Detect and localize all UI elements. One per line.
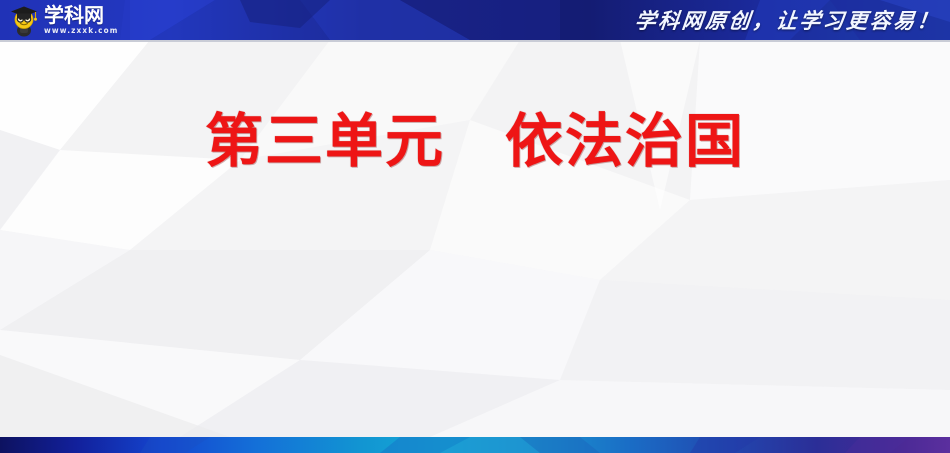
site-logo[interactable]: 学科网 www.zxxk.com xyxy=(6,1,124,39)
slide-title-area: 第三单元 依法治国 xyxy=(0,110,950,174)
header-slogan-text: 学科网原创，让学习更容易！ xyxy=(633,5,942,35)
header-slogan: 学科网原创，让学习更容易！ xyxy=(635,0,941,40)
slide-footer-bar xyxy=(0,437,950,453)
presentation-slide: 学科网 www.zxxk.com 学科网原创，让学习更容易！ 第三单元 依法治国 xyxy=(0,0,950,453)
slide-header-bar: 学科网 www.zxxk.com 学科网原创，让学习更容易！ xyxy=(0,0,950,40)
header-divider xyxy=(0,40,950,42)
logo-brand-name: 学科网 xyxy=(44,5,121,25)
background-polygon-pattern xyxy=(0,0,950,453)
graduate-mascot-icon xyxy=(6,2,42,38)
page-title: 第三单元 依法治国 xyxy=(205,110,745,174)
logo-website-url: www.zxxk.com xyxy=(44,27,119,35)
footer-polygon-pattern xyxy=(0,437,950,453)
